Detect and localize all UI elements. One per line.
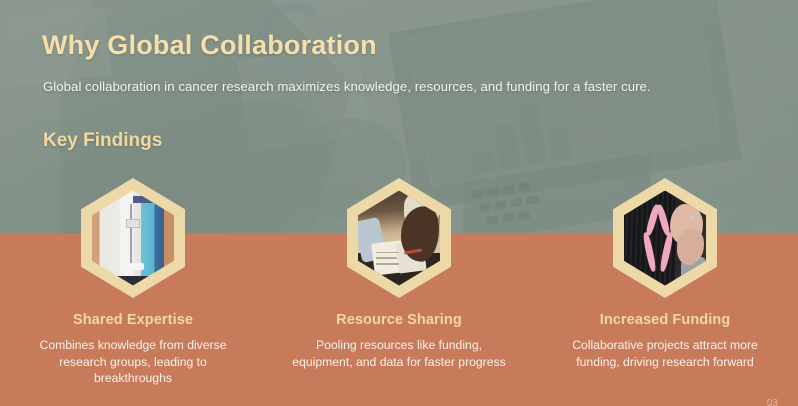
slide-subtitle: Global collaboration in cancer research … <box>43 79 651 94</box>
slide: Why Global Collaboration Global collabor… <box>0 0 798 406</box>
finding-card-title: Resource Sharing <box>336 312 462 328</box>
hexagon-frame <box>613 178 717 298</box>
hexagon-frame <box>81 178 185 298</box>
slide-title: Why Global Collaboration <box>42 30 377 61</box>
hand-on-open-book-photo <box>358 191 440 286</box>
finding-card-title: Increased Funding <box>600 312 731 328</box>
book-text-line <box>376 263 399 265</box>
page-number: 03 <box>767 398 778 406</box>
hexagon-frame <box>347 178 451 298</box>
book-text-line <box>376 257 397 259</box>
finding-card: Shared Expertise Combines knowledge from… <box>0 178 266 387</box>
lab-equipment-pole <box>130 204 132 263</box>
hexagon-image-mask <box>92 191 174 286</box>
finding-card: Increased Funding Collaborative projects… <box>532 178 798 387</box>
finding-card-title: Shared Expertise <box>73 312 193 328</box>
book-text-line <box>376 252 399 254</box>
section-heading: Key Findings <box>43 130 162 152</box>
finding-card-description: Pooling resources like funding, equipmen… <box>292 337 507 370</box>
finding-card-description: Combines knowledge from diverse research… <box>26 337 241 387</box>
finding-card: Resource Sharing Pooling resources like … <box>266 178 532 387</box>
pink-ribbon-in-hands-photo <box>624 191 706 286</box>
hexagon-image-mask <box>358 191 440 286</box>
lab-bench-shape <box>122 263 144 270</box>
lab-floor-shape <box>92 276 174 286</box>
lab-device-shape <box>126 219 140 228</box>
ribbon-ring-shape <box>689 215 695 219</box>
finding-card-description: Collaborative projects attract more fund… <box>558 337 773 370</box>
key-findings-cards: Shared Expertise Combines knowledge from… <box>0 178 798 387</box>
lab-researchers-photo <box>92 191 174 286</box>
hexagon-image-mask <box>624 191 706 286</box>
lab-sign-shape <box>133 196 157 203</box>
